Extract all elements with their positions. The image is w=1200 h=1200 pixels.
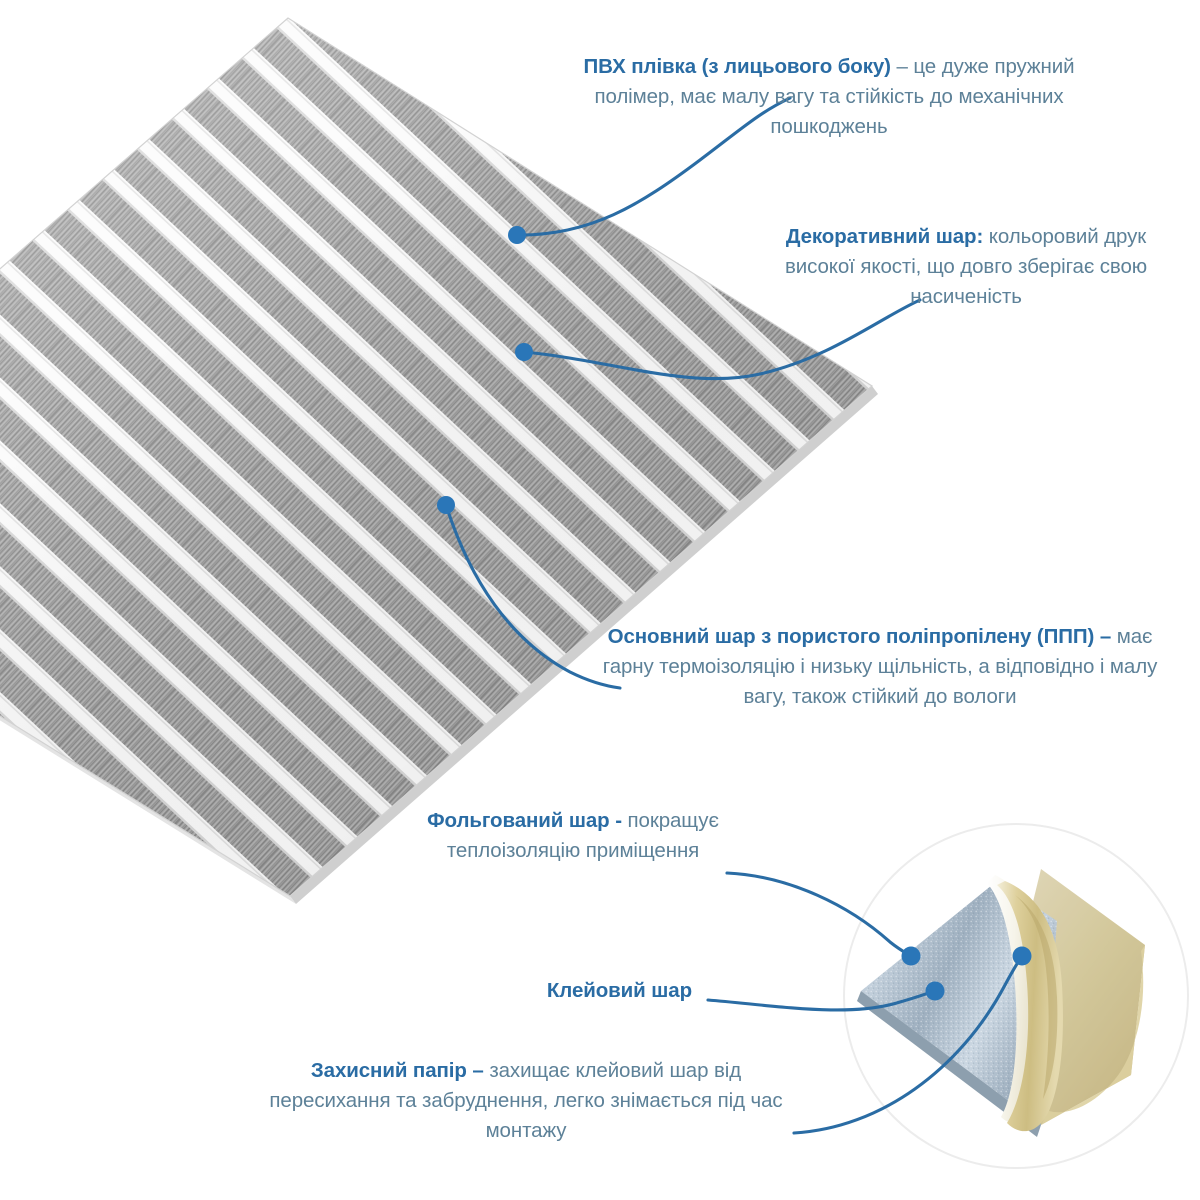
callout-protective-paper-title: Захисний папір – [311, 1059, 484, 1082]
callout-foil-layer: Фольгований шар - покращує теплоізоляцію… [420, 806, 726, 866]
callout-decorative-layer-title: Декоративний шар: [786, 225, 983, 248]
callout-pvc-film-title: ПВХ плівка (з лицьового боку) [584, 55, 891, 78]
callout-core-layer: Основний шар з пористого поліпропілену (… [600, 622, 1160, 712]
panel-corner-closeup [843, 823, 1189, 1169]
callout-core-layer-title: Основний шар з пористого поліпропілену (… [608, 625, 1112, 648]
panel-face [0, 18, 872, 896]
callout-adhesive-layer-title: Клейовий шар [547, 979, 692, 1002]
infographic-canvas: ПВХ плівка (з лицьового боку) – це дуже … [0, 0, 1200, 1200]
callout-adhesive-layer: Клейовий шар [446, 976, 692, 1006]
callout-pvc-film: ПВХ плівка (з лицьового боку) – це дуже … [556, 52, 1102, 142]
callout-decorative-layer: Декоративний шар: кольоровий друк високо… [760, 222, 1172, 312]
callout-protective-paper: Захисний папір – захищає клейовий шар ві… [250, 1056, 802, 1146]
callout-foil-layer-title: Фольгований шар - [427, 809, 622, 832]
